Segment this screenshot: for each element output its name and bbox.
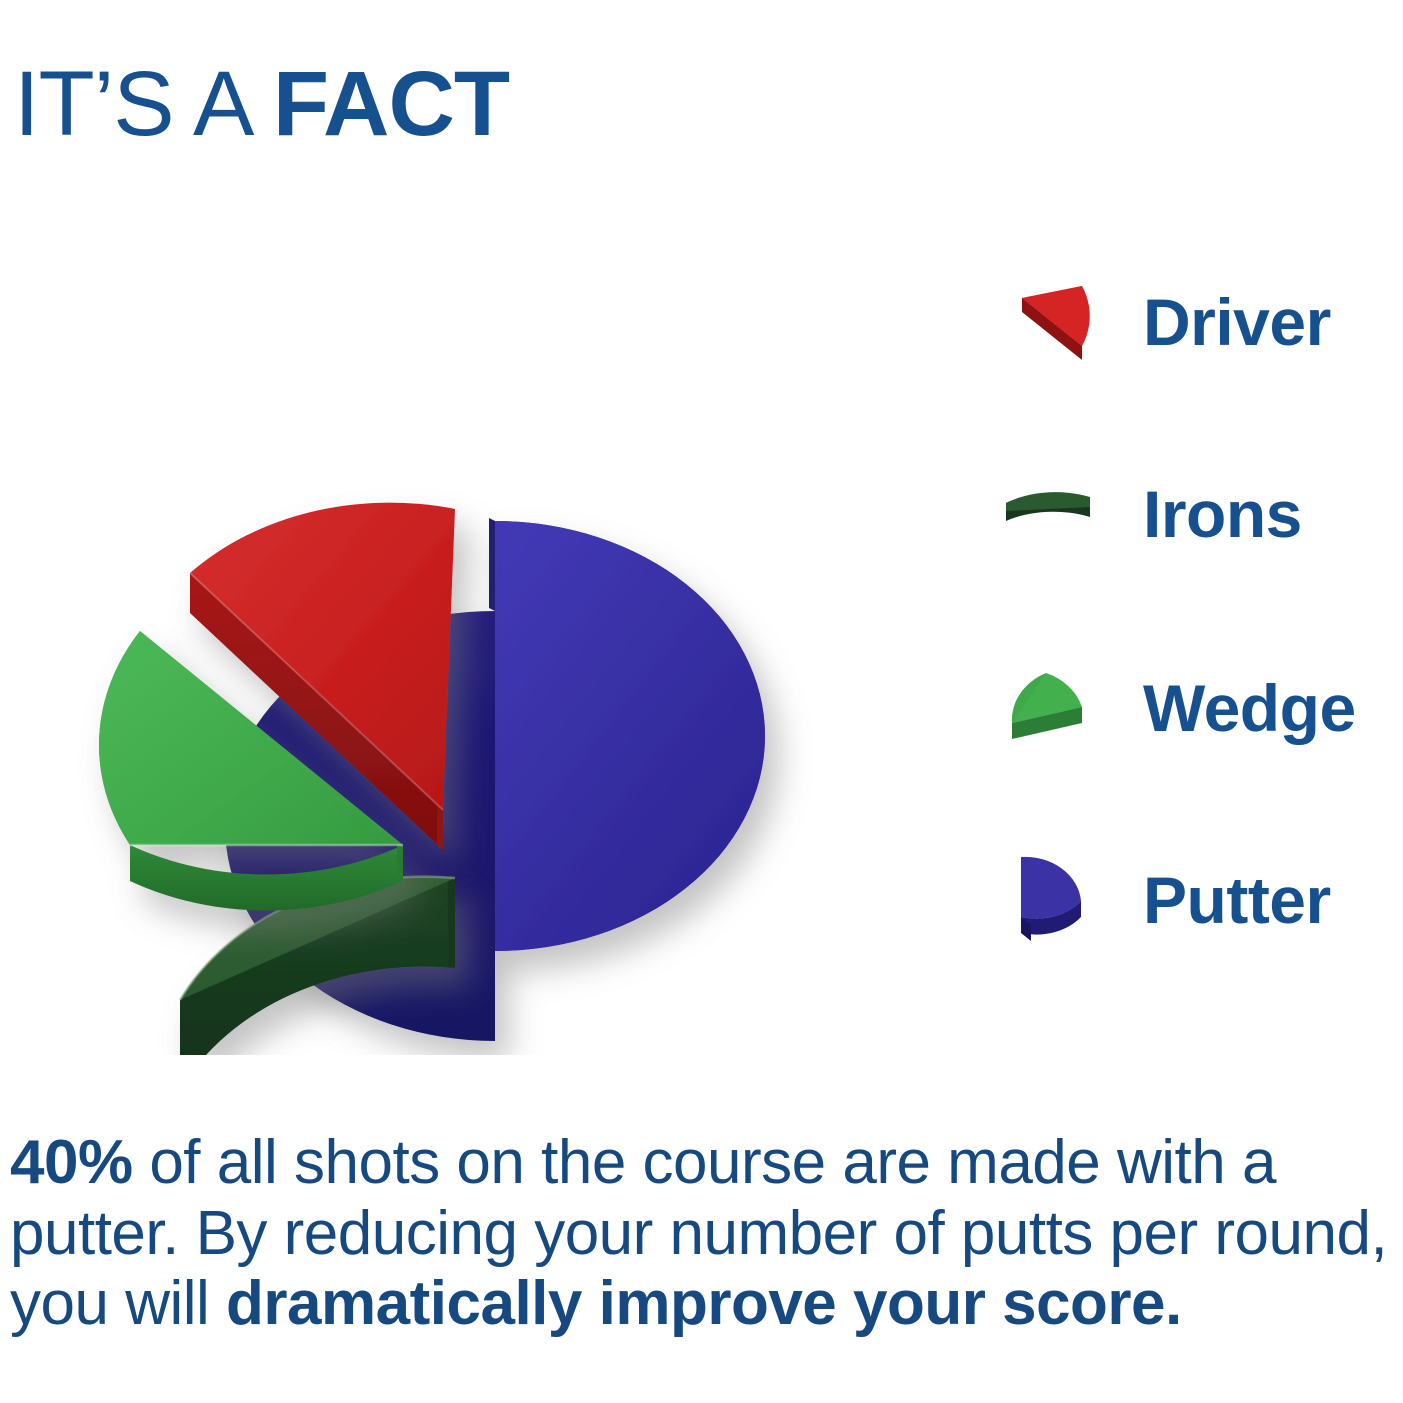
legend-label-irons: Irons — [1143, 476, 1302, 552]
pie-wedge-wedge-icon — [995, 648, 1105, 768]
legend-item-wedge[interactable]: Wedge — [995, 648, 1403, 768]
pie-wedge-irons-icon — [995, 454, 1105, 574]
infographic-page: IT’S A FACT — [0, 0, 1403, 1403]
page-title: IT’S A FACT — [14, 58, 509, 150]
legend-item-putter[interactable]: Putter — [995, 840, 1403, 960]
pie-wedge-driver-icon — [995, 262, 1105, 382]
title-light-part: IT’S A — [14, 53, 273, 155]
caption-text: 40% of all shots on the course are made … — [10, 1128, 1400, 1340]
caption-lead-stat: 40% — [10, 1128, 133, 1197]
legend-item-driver[interactable]: Driver — [995, 262, 1403, 382]
pie-wedge-putter-icon — [995, 840, 1105, 960]
pie-chart-svg — [0, 225, 980, 1055]
chart-legend: Driver Irons We — [995, 262, 1403, 1022]
caption-emphasis: dramatically improve your score. — [226, 1269, 1182, 1338]
pie-chart — [0, 225, 980, 1055]
legend-label-wedge: Wedge — [1143, 670, 1356, 746]
legend-label-driver: Driver — [1143, 284, 1331, 360]
legend-label-putter: Putter — [1143, 862, 1331, 938]
legend-item-irons[interactable]: Irons — [995, 454, 1403, 574]
title-bold-part: FACT — [273, 53, 509, 155]
